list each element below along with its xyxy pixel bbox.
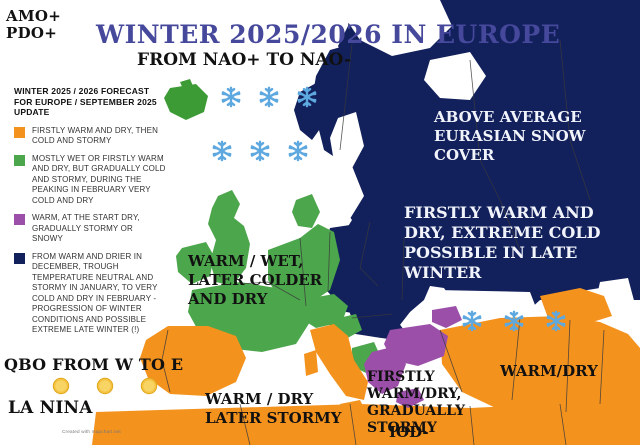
sun-icon [50,375,72,397]
snowflake-icon [220,86,242,108]
legend-label-green: MOSTLY WET OR FIRSTLY WARM AND DRY, BUT … [32,154,166,207]
legend-label-orange: FIRSTLY WARM AND DRY, THEN COLD AND STOR… [32,126,166,147]
legend-swatch-navy [14,253,25,264]
snowflake-row-black-sea [461,310,567,332]
index-la-nina: LA NINA [8,398,93,418]
annotation-east-line4: WINTER [404,263,600,283]
annotation-iberia-line2: LATER STORMY [205,409,342,428]
annotation-balkan-line4: STORMY [367,420,465,437]
legend-item-navy: FROM WARM AND DRIER IN DECEMBER, TROUGH … [14,252,166,336]
legend-label-purple: WARM, AT THE START DRY, GRADUALLY STORMY… [32,213,166,245]
annotation-balkan-line1: FIRSTLY [367,369,465,386]
snowflake-icon [296,86,318,108]
legend-item-orange: FIRSTLY WARM AND DRY, THEN COLD AND STOR… [14,126,166,147]
snowflake-icon [249,140,271,162]
snowflake-icon [258,86,280,108]
annotation-balkan-line3: GRADUALLY [367,403,465,420]
annotation-green-line1: WARM / WET, [188,252,322,271]
snowflake-row-second [211,140,309,162]
snowflake-icon [211,140,233,162]
annotation-east-line2: DRY, EXTREME COLD [404,223,600,243]
page-subtitle: FROM NAO+ TO NAO- [137,50,351,70]
annotation-turkey: WARM/DRY [500,362,598,380]
annotation-east-line3: POSSIBLE IN LATE [404,243,600,263]
annotation-green-line2: LATER COLDER [188,271,322,290]
sun-icon [94,375,116,397]
index-qbo: QBO FROM W TO E [4,355,183,374]
sun-row-la-nina [50,375,160,397]
legend-label-navy: FROM WARM AND DRIER IN DECEMBER, TROUGH … [32,252,166,336]
index-pdo: PDO+ [6,25,61,42]
index-amo-pdo: AMO+ PDO+ [6,8,61,42]
legend-swatch-purple [14,214,25,225]
legend-swatch-green [14,155,25,166]
annotation-east-late-winter: FIRSTLY WARM AND DRY, EXTREME COLD POSSI… [404,203,600,283]
index-amo: AMO+ [6,8,61,25]
legend: WINTER 2025 / 2026 FORECAST FOR EUROPE /… [14,86,166,343]
annotation-green-line3: AND DRY [188,290,322,309]
legend-swatch-orange [14,127,25,138]
annotation-balkan-line2: WARM/DRY, [367,386,465,403]
annotation-east-line1: FIRSTLY WARM AND [404,203,600,223]
snowflake-icon [461,310,483,332]
snowflake-icon [545,310,567,332]
snowflake-icon [287,140,309,162]
page-title: WINTER 2025/2026 IN EUROPE [96,20,560,49]
annotation-balkans: FIRSTLY WARM/DRY, GRADUALLY STORMY [367,369,465,437]
forecast-map-infographic: AMO+ PDO+ WINTER 2025/2026 IN EUROPE FRO… [0,0,640,445]
annotation-iberia-line1: WARM / DRY [205,390,342,409]
legend-title: WINTER 2025 / 2026 FORECAST FOR EUROPE /… [14,86,166,118]
sun-icon [138,375,160,397]
legend-item-purple: WARM, AT THE START DRY, GRADUALLY STORMY… [14,213,166,245]
annotation-west-europe: WARM / WET, LATER COLDER AND DRY [188,252,322,309]
map-credit: Created with mapchart.net [62,429,121,434]
legend-item-green: MOSTLY WET OR FIRSTLY WARM AND DRY, BUT … [14,154,166,207]
annotation-snow-line2: EURASIAN SNOW COVER [434,127,640,165]
annotation-iberia: WARM / DRY LATER STORMY [205,390,342,428]
snowflake-row-top [220,86,318,108]
annotation-snow-line1: ABOVE AVERAGE [434,108,640,127]
snowflake-icon [503,310,525,332]
annotation-eurasian-snow-cover: ABOVE AVERAGE EURASIAN SNOW COVER [434,108,640,165]
